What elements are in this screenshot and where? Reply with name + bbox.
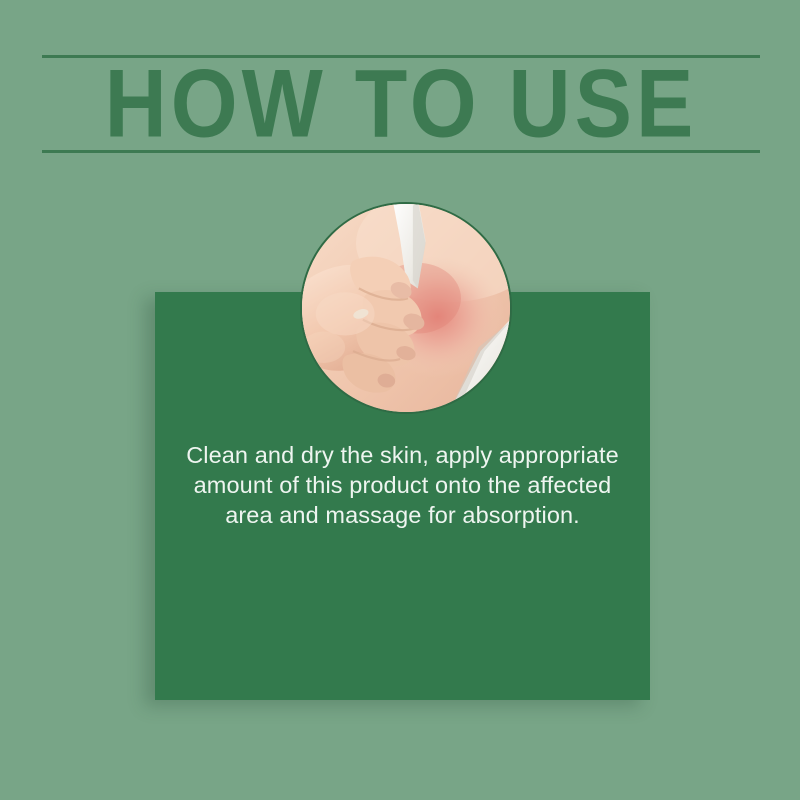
title-rule-bottom [42,150,760,153]
how-to-use-poster: HOW TO USE Clean and dry the skin, apply… [0,0,800,800]
instruction-text: Clean and dry the skin, apply appropriat… [183,440,622,530]
scratching-irritated-skin-photo [300,202,512,414]
page-title: HOW TO USE [42,49,760,159]
header-block: HOW TO USE [42,55,760,153]
